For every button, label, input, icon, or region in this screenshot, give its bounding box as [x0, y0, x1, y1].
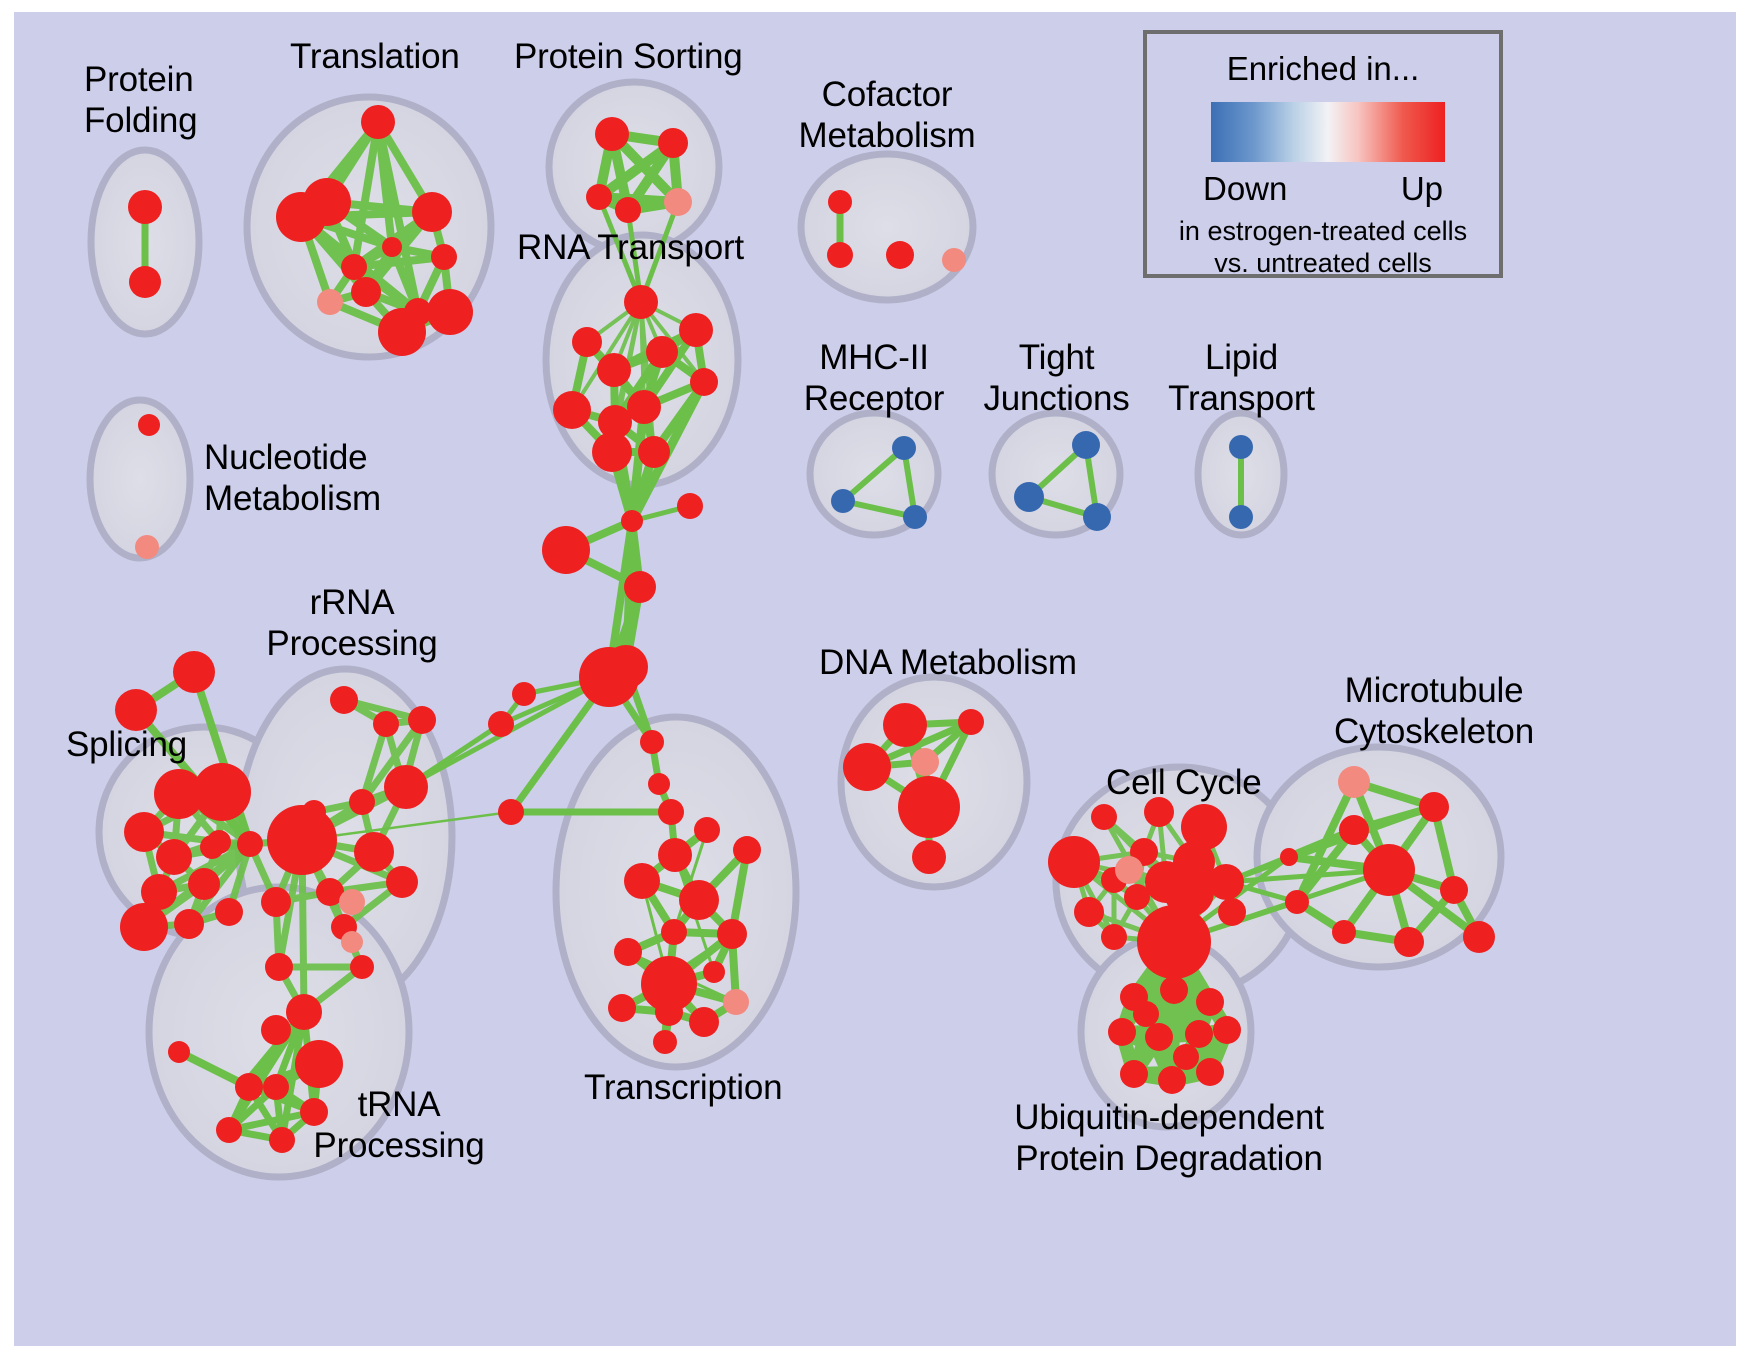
- legend-subtitle-line1: in estrogen-treated cells: [1147, 216, 1499, 247]
- legend-panel: Enriched in... Down Up in estrogen-treat…: [1143, 30, 1503, 278]
- legend-up-label: Up: [1401, 170, 1443, 208]
- cluster-label-lipid-transport: Lipid Transport: [1164, 337, 1319, 419]
- cluster-label-protein-sorting: Protein Sorting: [514, 36, 743, 77]
- network-canvas: Protein Folding Translation Protein Sort…: [14, 12, 1736, 1346]
- cluster-label-nucleotide-metabolism: Nucleotide Metabolism: [204, 437, 381, 519]
- cluster-label-cell-cycle: Cell Cycle: [1106, 762, 1262, 803]
- figure-root: Protein Folding Translation Protein Sort…: [0, 0, 1750, 1360]
- cluster-label-ubiquitin: Ubiquitin-dependent Protein Degradation: [989, 1097, 1349, 1179]
- cluster-label-translation: Translation: [290, 36, 460, 77]
- cluster-label-tight-junctions: Tight Junctions: [979, 337, 1134, 419]
- legend-subtitle-line2: vs. untreated cells: [1147, 248, 1499, 279]
- cluster-label-rna-transport: RNA Transport: [517, 227, 744, 268]
- cluster-label-mhc-ii-receptor: MHC-II Receptor: [784, 337, 964, 419]
- cluster-label-cofactor-metabolism: Cofactor Metabolism: [787, 74, 987, 156]
- cluster-label-microtubule: Microtubule Cytoskeleton: [1304, 670, 1564, 752]
- cluster-label-splicing: Splicing: [66, 724, 187, 765]
- legend-title: Enriched in...: [1147, 50, 1499, 88]
- legend-down-label: Down: [1203, 170, 1287, 208]
- cluster-label-trna-processing: tRNA Processing: [304, 1084, 494, 1166]
- cluster-label-rrna-processing: rRNA Processing: [257, 582, 447, 664]
- halo-cofactor: [801, 154, 973, 300]
- cluster-label-dna-metabolism: DNA Metabolism: [819, 642, 1077, 683]
- cluster-label-transcription: Transcription: [584, 1067, 782, 1108]
- cluster-label-protein-folding: Protein Folding: [84, 59, 197, 141]
- legend-color-gradient-bar: [1211, 102, 1445, 162]
